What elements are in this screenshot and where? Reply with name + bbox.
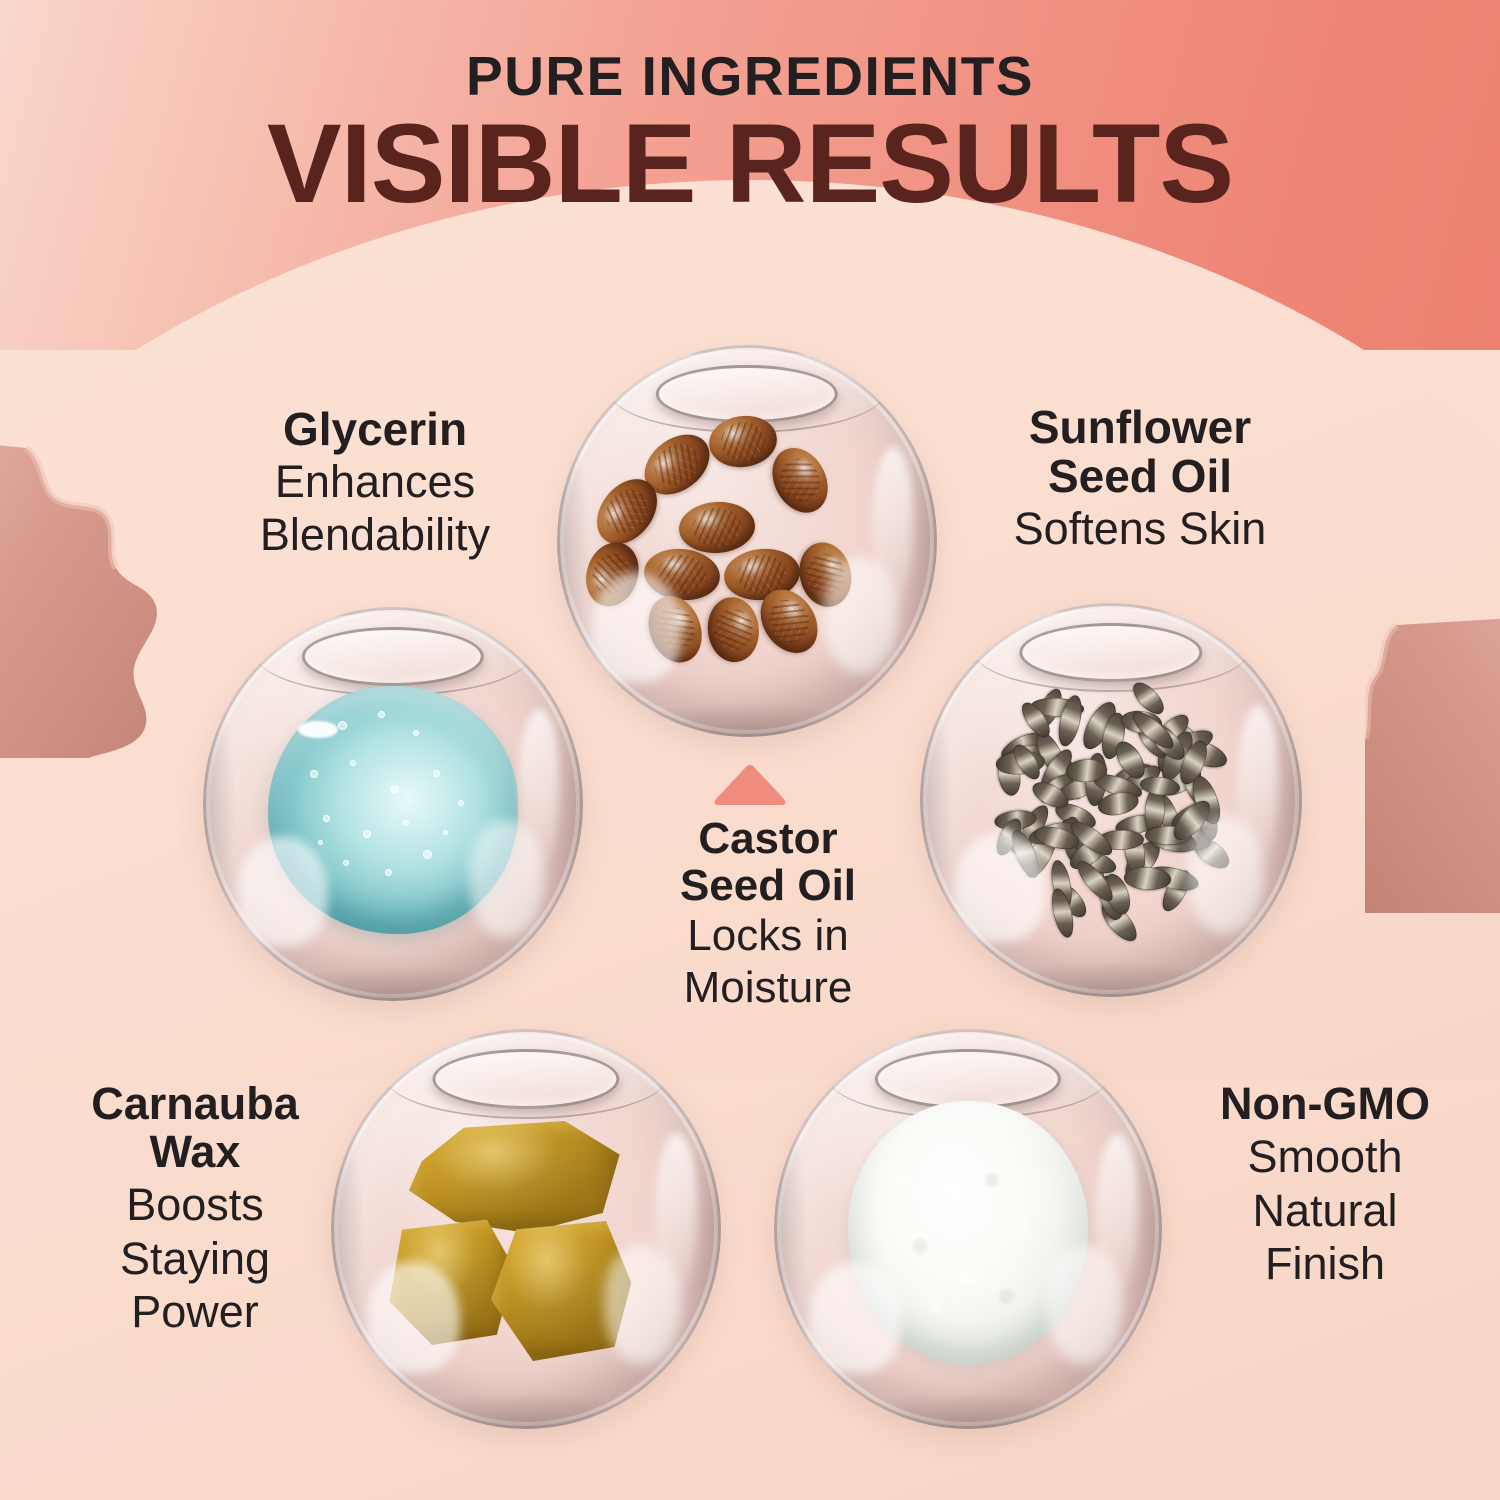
glass-highlight-edge — [872, 447, 914, 604]
ingredient-benefit-nongmo-line2: Natural — [1160, 1186, 1490, 1236]
ingredient-benefit-nongmo-line3: Finish — [1160, 1239, 1490, 1289]
ingredient-label-castor-seed-oil: Castor Seed Oil Locks in Moisture — [618, 815, 918, 1012]
glass-highlight-edge — [518, 709, 560, 867]
ingredient-label-non-gmo: Non-GMO Smooth Natural Finish — [1160, 1080, 1490, 1289]
ingredient-benefit-castor-line2: Moisture — [618, 964, 918, 1012]
ingredient-benefit-carnauba-line2: Staying — [30, 1234, 360, 1284]
ingredient-benefit-carnauba-line1: Boosts — [30, 1180, 360, 1230]
glass-highlight-edge — [655, 1133, 698, 1293]
glass-highlight-left — [591, 572, 682, 682]
glass-highlight-left — [237, 836, 328, 946]
ingredient-label-sunflower-seed-oil: Sunflower Seed Oil Softens Skin — [940, 403, 1340, 554]
ingredient-name-sunflower-line1: Sunflower — [940, 403, 1340, 452]
ingredient-benefit-carnauba-line3: Power — [30, 1287, 360, 1337]
glass-highlight-edge — [1096, 1133, 1139, 1293]
ingredient-bubble-non-gmo[interactable] — [774, 1029, 1162, 1429]
ingredient-name-sunflower-line2: Seed Oil — [940, 452, 1340, 501]
title-headline: VISIBLE RESULTS — [0, 108, 1500, 220]
infographic-canvas: PURE INGREDIENTS VISIBLE RESULTS — [0, 0, 1500, 1500]
ingredient-benefit-castor-line1: Locks in — [618, 912, 918, 960]
ingredient-benefit-nongmo-line1: Smooth — [1160, 1132, 1490, 1182]
lipstick-swatch-right-icon — [1365, 615, 1500, 915]
ingredient-benefit-sunflower-line1: Softens Skin — [940, 504, 1340, 554]
ingredient-name-carnauba-line1: Carnauba — [30, 1080, 360, 1128]
glass-highlight-left — [809, 1261, 902, 1373]
title-kicker: PURE INGREDIENTS — [0, 48, 1500, 104]
lipstick-swatch-left-icon — [0, 440, 163, 760]
ingredient-label-glycerin: Glycerin Enhances Blendability — [180, 405, 570, 559]
ingredient-name-castor-line1: Castor — [618, 815, 918, 862]
ingredient-bubble-glycerin[interactable] — [203, 607, 583, 1001]
ingredient-label-carnauba-wax: Carnauba Wax Boosts Staying Power — [30, 1080, 360, 1337]
ingredient-benefit-glycerin-line1: Enhances — [180, 457, 570, 507]
ingredient-name-glycerin: Glycerin — [180, 405, 570, 454]
glass-highlight-left — [954, 832, 1046, 942]
ingredient-name-nongmo-line1: Non-GMO — [1160, 1080, 1490, 1128]
ingredient-benefit-glycerin-line2: Blendability — [180, 510, 570, 560]
glass-highlight-edge — [1237, 705, 1279, 863]
ingredient-bubble-sunflower-seed-oil[interactable] — [920, 603, 1302, 997]
ingredient-name-carnauba-line2: Wax — [30, 1128, 360, 1176]
page-title: PURE INGREDIENTS VISIBLE RESULTS — [0, 48, 1500, 220]
ingredient-name-castor-line2: Seed Oil — [618, 862, 918, 909]
triangle-up-icon — [712, 763, 788, 807]
ingredient-bubble-carnauba-wax[interactable] — [331, 1029, 721, 1429]
glass-highlight-left — [366, 1261, 460, 1373]
ingredient-bubble-castor-seed-oil[interactable] — [557, 345, 937, 737]
